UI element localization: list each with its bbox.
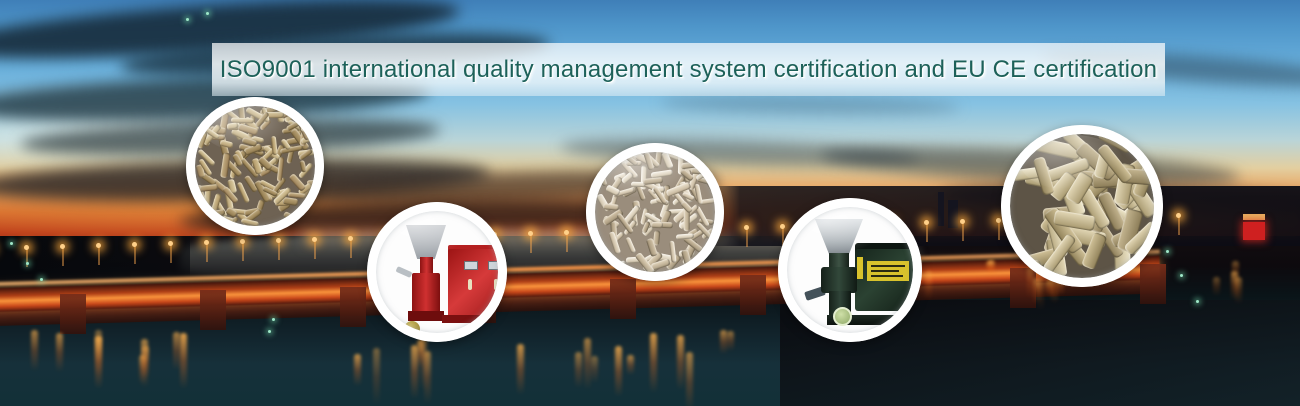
light-reflection — [1213, 277, 1220, 296]
lamp-post — [242, 243, 244, 261]
press-head — [821, 267, 857, 293]
pellet-photo — [195, 106, 315, 226]
lamp-post — [962, 223, 964, 241]
light-reflection — [615, 346, 622, 397]
light-reflection — [727, 331, 734, 351]
point-light — [26, 262, 29, 265]
light-reflection — [584, 338, 591, 390]
panel-switch — [494, 279, 498, 290]
pellet — [305, 204, 315, 223]
point-light — [1196, 300, 1199, 303]
point-light — [10, 242, 13, 245]
point-light — [272, 318, 275, 321]
light-reflection — [677, 335, 684, 390]
yellow-strip — [857, 257, 863, 279]
lamp-post — [134, 246, 136, 264]
lamp-post — [530, 235, 532, 253]
light-reflection — [180, 333, 187, 389]
lamp-post — [746, 229, 748, 247]
city-tower — [948, 200, 958, 228]
steel-hopper — [406, 225, 446, 259]
light-reflection — [1231, 271, 1238, 300]
pellet — [669, 240, 677, 262]
lamp-post — [278, 242, 280, 260]
panel-gauge — [464, 261, 478, 270]
product-circle-wood-pellets[interactable] — [186, 97, 324, 235]
pellet-texture — [595, 152, 715, 272]
panel-gauge — [488, 261, 498, 270]
pellet — [595, 152, 617, 160]
pellet — [605, 260, 627, 270]
pellet — [653, 230, 660, 246]
point-light — [186, 18, 189, 21]
light-reflection — [591, 356, 598, 383]
light-reflection — [517, 344, 524, 395]
light-reflection — [141, 339, 148, 388]
pellet-photo — [1010, 134, 1154, 278]
light-reflection — [1046, 279, 1053, 299]
hero-banner: ISO9001 international quality management… — [0, 0, 1300, 406]
lamp-post — [206, 244, 208, 262]
press-chamber — [412, 273, 440, 313]
lamp-post — [98, 247, 100, 265]
cabinet-base — [442, 315, 498, 323]
machine-foot — [408, 311, 444, 321]
pellet-texture — [195, 106, 315, 226]
pellet — [625, 236, 636, 254]
panel-switch — [468, 279, 472, 290]
light-reflection — [420, 335, 427, 390]
pellet — [707, 257, 715, 272]
bridge-pier — [200, 290, 226, 330]
pellet-photo — [595, 152, 715, 272]
nameplate-label — [867, 261, 909, 281]
pellet — [230, 118, 253, 123]
light-reflection — [354, 354, 361, 386]
point-light — [1166, 250, 1169, 253]
banner-headline: ISO9001 international quality management… — [220, 56, 1157, 84]
red-billboard — [1243, 222, 1265, 240]
billboard-top — [1243, 214, 1265, 220]
product-circle-pale-pellets[interactable] — [586, 143, 724, 281]
bridge-pier — [340, 287, 366, 327]
control-cabinet — [448, 249, 498, 317]
bridge-pier — [610, 279, 636, 319]
lamp-post — [1178, 217, 1180, 235]
light-reflection — [56, 333, 63, 372]
feed-arm — [395, 266, 412, 278]
light-reflection — [575, 352, 582, 388]
light-reflection — [686, 352, 693, 406]
light-reflection — [373, 348, 380, 405]
pellet — [651, 222, 663, 228]
point-light — [268, 330, 271, 333]
caster-wheel — [833, 307, 852, 326]
certification-banner: ISO9001 international quality management… — [212, 43, 1165, 96]
lamp-post — [566, 234, 568, 252]
light-reflection — [720, 330, 727, 354]
pellet — [271, 136, 278, 155]
light-reflection — [986, 261, 993, 271]
light-reflection — [411, 345, 418, 399]
product-circle-red-pellet-mill[interactable] — [367, 202, 507, 342]
lamp-post — [314, 241, 316, 259]
lamp-post — [926, 224, 928, 242]
pellet — [643, 177, 663, 185]
light-reflection — [925, 271, 932, 301]
lamp-post — [998, 222, 1000, 240]
lamp-post — [350, 240, 352, 258]
scale-coin — [404, 321, 420, 333]
point-light — [40, 278, 43, 281]
label-line — [871, 265, 905, 267]
light-reflection — [31, 330, 38, 371]
city-tower — [938, 192, 944, 226]
label-line — [871, 270, 899, 272]
bridge-pier — [60, 294, 86, 334]
point-light — [206, 12, 209, 15]
product-circle-large-pellets[interactable] — [1001, 125, 1163, 287]
machine-photo-red — [376, 211, 498, 333]
product-circle-green-pellet-mill[interactable] — [778, 198, 922, 342]
lamp-post — [62, 248, 64, 266]
point-light — [1180, 274, 1183, 277]
light-reflection — [173, 332, 180, 370]
machine-photo-green — [787, 207, 913, 333]
light-reflection — [1033, 278, 1040, 304]
lamp-post — [170, 245, 172, 263]
light-reflection — [95, 336, 102, 389]
light-reflection — [650, 333, 657, 393]
light-reflection — [627, 355, 634, 374]
pellet-texture — [1010, 134, 1154, 278]
bridge-pier — [740, 275, 766, 315]
label-line — [871, 275, 903, 277]
